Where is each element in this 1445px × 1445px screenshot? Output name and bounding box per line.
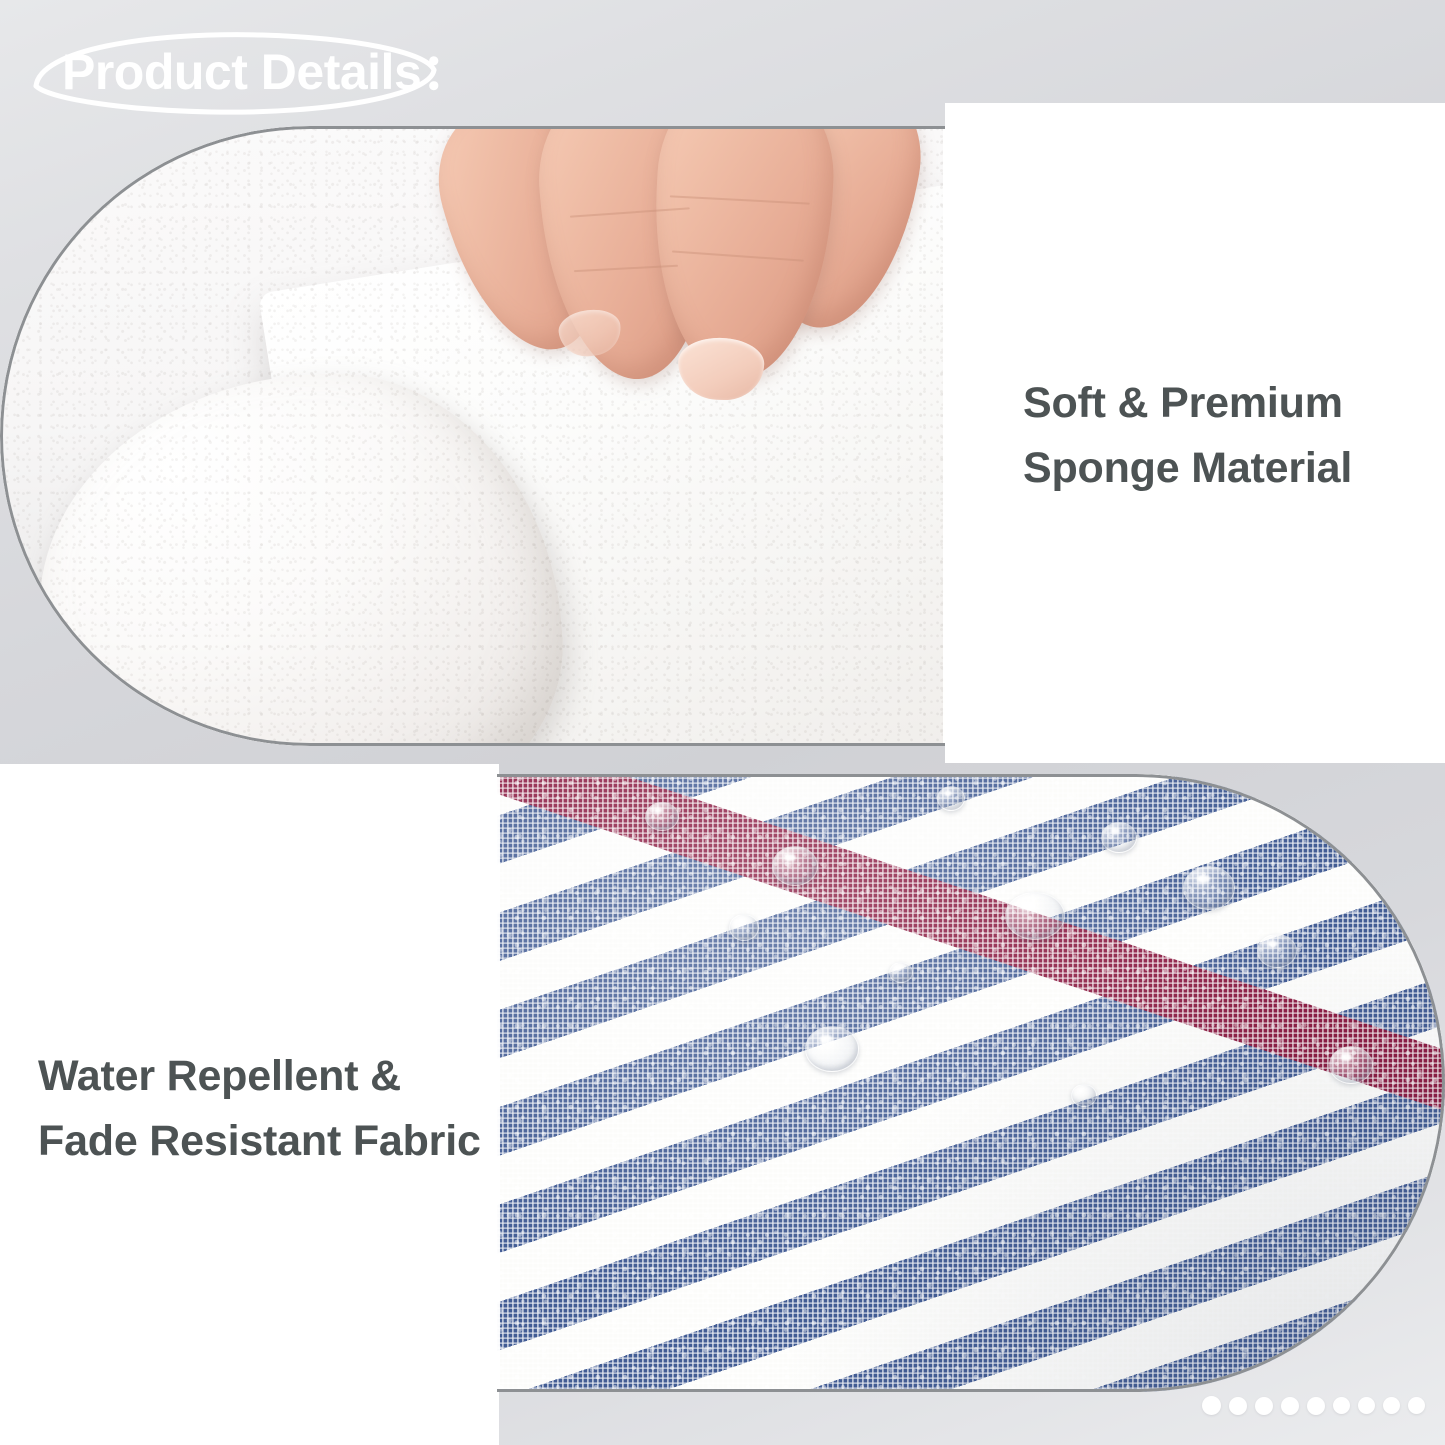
water-droplet [772,846,818,886]
fabric-scene [497,774,1445,1392]
fabric-heading: Water Repellent & Fade Resistant Fabric [38,1044,498,1175]
water-droplet [937,786,965,811]
dot-indicator [1383,1397,1400,1414]
sponge-heading-line-1: Soft & Premium [1023,371,1423,436]
sponge-text-panel: Soft & Premium Sponge Material [945,103,1445,763]
water-droplet [1257,934,1297,968]
striped-fabric-photo [497,774,1445,1392]
foam-sponge-photo [0,126,946,746]
foam-scene-backdrop [0,126,946,746]
water-droplet [805,1026,859,1072]
sponge-heading: Soft & Premium Sponge Material [1023,371,1423,502]
dot-indicator [1358,1397,1375,1414]
dot-indicator-row [1202,1396,1425,1415]
dot-indicator [1255,1397,1273,1415]
water-droplet [1071,1084,1097,1107]
water-droplet [1005,892,1065,940]
water-droplet [1183,866,1235,910]
fingernail-primary [677,336,765,401]
water-droplet [729,914,759,941]
water-droplet [889,962,913,983]
dot-indicator [1333,1397,1350,1414]
dot-indicator [1202,1396,1221,1415]
sponge-heading-line-2: Sponge Material [1023,436,1423,501]
page-title: Product Details： [26,22,446,120]
fabric-heading-line-1: Water Repellent & [38,1044,498,1109]
page-title-text: Product Details： [62,47,471,97]
fabric-text-panel: Water Repellent & Fade Resistant Fabric [0,764,499,1445]
water-droplet [1329,1046,1373,1084]
dot-indicator [1307,1397,1325,1415]
water-droplet [645,802,679,831]
water-droplet [1101,822,1137,853]
dot-indicator [1281,1397,1299,1415]
product-details-banner: Product Details： [0,0,1445,1445]
fabric-heading-line-2: Fade Resistant Fabric [38,1109,498,1174]
dot-indicator [1408,1397,1425,1414]
fabric-lighting-overlay [497,774,1445,1392]
hand-pinching-foam [439,126,901,448]
dot-indicator [1229,1397,1247,1415]
